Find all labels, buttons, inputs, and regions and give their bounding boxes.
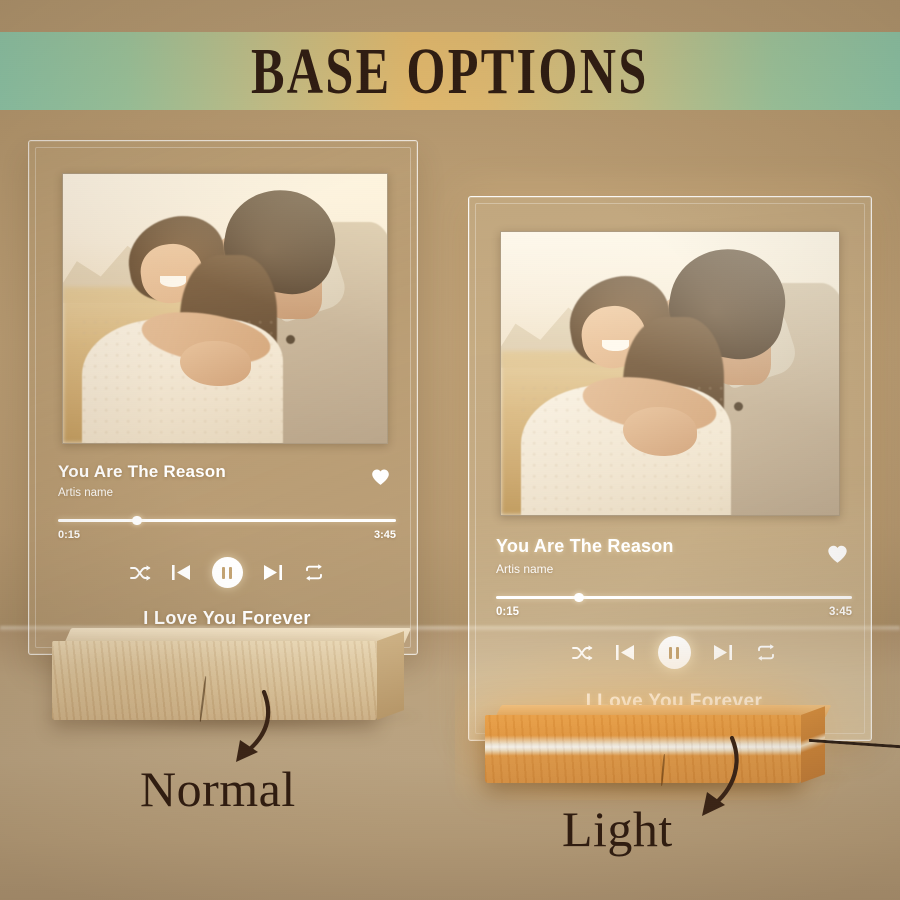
progress-track	[58, 519, 396, 522]
time-elapsed: 0:15	[58, 529, 80, 541]
song-title: You Are The Reason	[58, 462, 396, 482]
time-labels: 0:15 3:45	[496, 606, 852, 618]
photo-layers	[501, 232, 839, 515]
photo-layers	[63, 174, 387, 443]
base-side-face	[377, 631, 404, 720]
pause-bars	[669, 647, 679, 659]
music-player-light: You Are The Reason Artis name 0:15 3:45	[496, 536, 852, 713]
arrow-to-light-base	[676, 736, 776, 836]
shuffle-icon[interactable]	[572, 642, 594, 664]
progress-bar[interactable]	[496, 596, 852, 600]
product-image-stage: BASE OPTIONS	[0, 0, 900, 900]
pause-icon[interactable]	[212, 557, 243, 588]
acrylic-plaque-light[interactable]: You Are The Reason Artis name 0:15 3:45	[468, 196, 872, 741]
previous-icon[interactable]	[171, 562, 193, 584]
photo-warm-overlay	[63, 174, 387, 443]
wood-knot	[661, 754, 666, 786]
player-controls	[496, 636, 852, 669]
music-player-normal: You Are The Reason Artis name 0:15 3:45	[58, 462, 396, 629]
shuffle-icon[interactable]	[130, 562, 152, 584]
acrylic-plaque-normal[interactable]: You Are The Reason Artis name 0:15 3:45	[28, 140, 418, 655]
label-light: Light	[562, 800, 673, 858]
artist-name: Artis name	[58, 487, 396, 499]
heart-icon[interactable]	[827, 544, 848, 564]
banner: BASE OPTIONS	[0, 32, 900, 110]
player-controls	[58, 557, 396, 588]
time-total: 3:45	[829, 606, 852, 618]
repeat-icon[interactable]	[755, 642, 777, 664]
progress-knob[interactable]	[574, 593, 584, 603]
pause-icon[interactable]	[658, 636, 691, 669]
couple-photo	[62, 173, 388, 444]
couple-photo	[500, 231, 840, 516]
artist-name: Artis name	[496, 562, 852, 576]
pause-bars	[222, 567, 232, 579]
song-title: You Are The Reason	[496, 536, 852, 557]
next-icon[interactable]	[712, 642, 734, 664]
repeat-icon[interactable]	[303, 562, 325, 584]
label-normal: Normal	[140, 760, 296, 818]
photo-warm-overlay	[501, 232, 839, 515]
time-total: 3:45	[374, 529, 396, 541]
progress-track	[496, 596, 852, 599]
progress-bar[interactable]	[58, 519, 396, 523]
progress-knob[interactable]	[132, 516, 142, 526]
banner-title: BASE OPTIONS	[251, 33, 649, 109]
previous-icon[interactable]	[615, 642, 637, 664]
time-labels: 0:15 3:45	[58, 529, 396, 541]
tagline: I Love You Forever	[58, 608, 396, 629]
heart-icon[interactable]	[371, 468, 390, 486]
next-icon[interactable]	[262, 562, 284, 584]
time-elapsed: 0:15	[496, 606, 519, 618]
